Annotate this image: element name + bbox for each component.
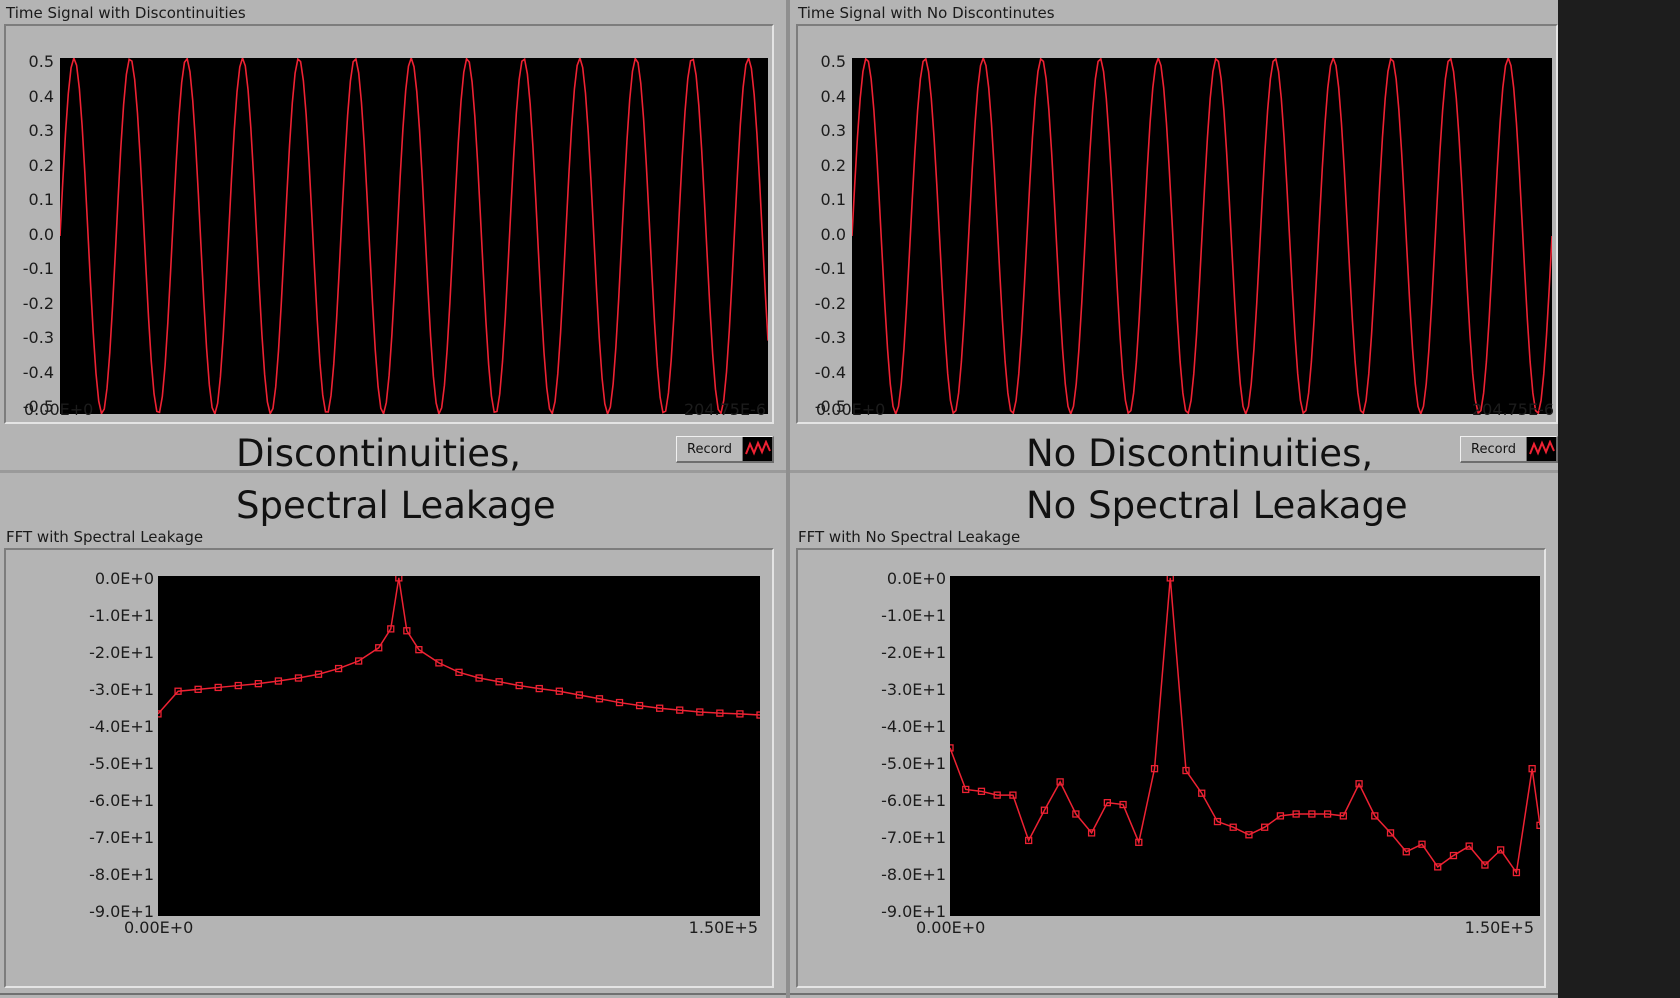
plot-canvas-fft-leakage[interactable]: [158, 576, 760, 916]
ytick: -5.0E+1: [798, 756, 946, 772]
ytick: 0.5: [798, 54, 846, 70]
xtick-min: 0.00E+0: [124, 920, 193, 936]
labview-front-panel: Time Signal with Discontinuities 0.5 0.4…: [0, 0, 1680, 998]
ytick: -4.0E+1: [6, 719, 154, 735]
xtick-max: 204.75E-6: [684, 402, 766, 418]
right-dark-strip: [1558, 0, 1680, 998]
graph-title-fft-no-leakage: FFT with No Spectral Leakage: [798, 529, 1020, 545]
ytick: -0.3: [6, 330, 54, 346]
ytick: -0.2: [798, 296, 846, 312]
graph-title-fft-leakage: FFT with Spectral Leakage: [6, 529, 203, 545]
xtick-max: 1.50E+5: [1465, 920, 1534, 936]
ytick: 0.0E+0: [6, 571, 154, 587]
xtick-min: 0.00E+0: [916, 920, 985, 936]
waveform-icon: [1526, 437, 1556, 461]
xtick-min: 0.00E+0: [816, 402, 885, 418]
xtick-max: 204.75E-6: [1472, 402, 1554, 418]
ytick: -1.0E+1: [798, 608, 946, 624]
record-button-top-right[interactable]: Record: [1460, 436, 1558, 463]
graph-title-time-no-discontinuities: Time Signal with No Discontinutes: [798, 5, 1055, 21]
ytick: 0.4: [798, 89, 846, 105]
ytick: -4.0E+1: [798, 719, 946, 735]
ytick: -3.0E+1: [6, 682, 154, 698]
plot-frame-fft-leakage: 0.0E+0 -1.0E+1 -2.0E+1 -3.0E+1 -4.0E+1 -…: [4, 548, 774, 988]
ytick: -8.0E+1: [6, 867, 154, 883]
bottom-bevel-right: [790, 993, 1558, 995]
plot-frame-time-no-discontinuities: 0.5 0.4 0.3 0.2 0.1 0.0 -0.1 -0.2 -0.3 -…: [796, 24, 1558, 424]
ytick: 0.1: [798, 192, 846, 208]
plot-canvas-time-discontinuities[interactable]: [60, 58, 768, 414]
ytick: 0.4: [6, 89, 54, 105]
ytick: -2.0E+1: [6, 645, 154, 661]
panel-fft-no-spectral-leakage: FFT with No Spectral Leakage 0.0E+0 -1.0…: [790, 473, 1558, 998]
ytick: -6.0E+1: [6, 793, 154, 809]
ytick: 0.3: [6, 123, 54, 139]
ytick: 0.0: [6, 227, 54, 243]
ytick: 0.0: [798, 227, 846, 243]
annotation-left: Discontinuities, Spectral Leakage: [236, 428, 556, 532]
ytick: -0.4: [6, 365, 54, 381]
record-button-top-left[interactable]: Record: [676, 436, 774, 463]
ytick: 0.5: [6, 54, 54, 70]
ytick: -6.0E+1: [798, 793, 946, 809]
panel-time-signal-discontinuities: Time Signal with Discontinuities 0.5 0.4…: [0, 0, 786, 470]
ytick: -0.1: [798, 261, 846, 277]
ytick: -7.0E+1: [798, 830, 946, 846]
panel-time-signal-no-discontinuities: Time Signal with No Discontinutes 0.5 0.…: [790, 0, 1558, 470]
annotation-right: No Discontinuities, No Spectral Leakage: [1026, 428, 1408, 532]
ytick: -1.0E+1: [6, 608, 154, 624]
record-button-label: Record: [1461, 437, 1526, 461]
ytick: -8.0E+1: [798, 867, 946, 883]
plot-canvas-fft-no-leakage[interactable]: [950, 576, 1540, 916]
plot-frame-time-discontinuities: 0.5 0.4 0.3 0.2 0.1 0.0 -0.1 -0.2 -0.3 -…: [4, 24, 774, 424]
ytick: 0.2: [6, 158, 54, 174]
ytick: -2.0E+1: [798, 645, 946, 661]
record-button-label: Record: [677, 437, 742, 461]
xtick-max: 1.50E+5: [689, 920, 758, 936]
ytick: -0.2: [6, 296, 54, 312]
ytick: -0.3: [798, 330, 846, 346]
ytick: 0.1: [6, 192, 54, 208]
plot-canvas-time-no-discontinuities[interactable]: [852, 58, 1552, 414]
ytick: -0.1: [6, 261, 54, 277]
ytick: -5.0E+1: [6, 756, 154, 772]
ytick: -3.0E+1: [798, 682, 946, 698]
ytick: 0.2: [798, 158, 846, 174]
ytick: 0.0E+0: [798, 571, 946, 587]
panel-fft-spectral-leakage: FFT with Spectral Leakage 0.0E+0 -1.0E+1…: [0, 473, 786, 998]
ytick: 0.3: [798, 123, 846, 139]
bottom-bevel-left: [0, 993, 786, 995]
ytick: -7.0E+1: [6, 830, 154, 846]
plot-frame-fft-no-leakage: 0.0E+0 -1.0E+1 -2.0E+1 -3.0E+1 -4.0E+1 -…: [796, 548, 1546, 988]
xtick-min: 0.00E+0: [24, 402, 93, 418]
graph-title-time-discontinuities: Time Signal with Discontinuities: [6, 5, 246, 21]
waveform-icon: [742, 437, 772, 461]
ytick: -0.4: [798, 365, 846, 381]
